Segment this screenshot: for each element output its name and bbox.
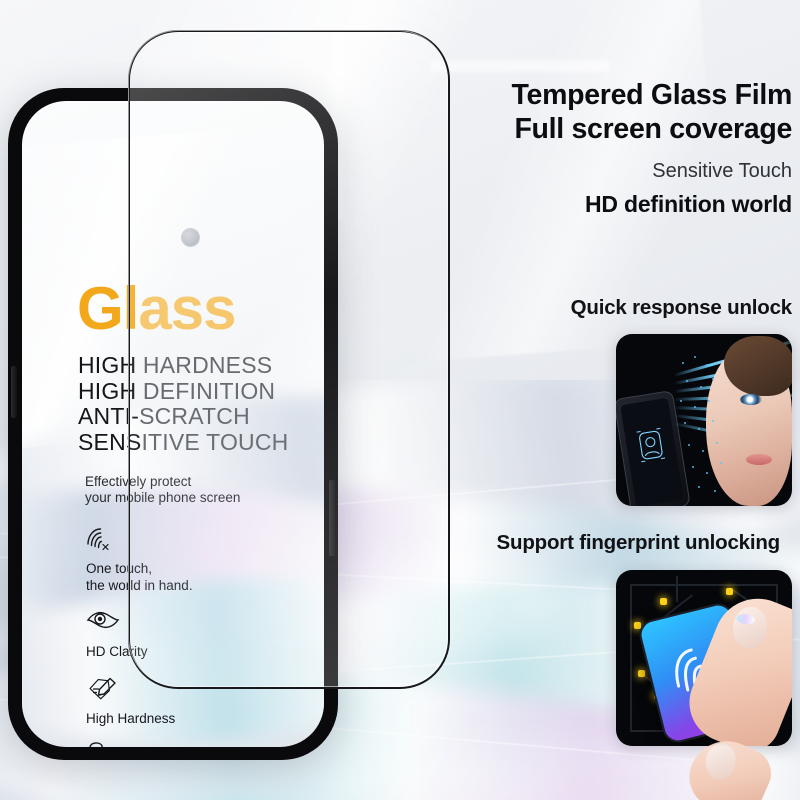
phone-volume-button bbox=[11, 366, 17, 418]
section-title-face-unlock: Quick response unlock bbox=[440, 296, 792, 320]
section-title-fingerprint: Support fingerprint unlocking bbox=[428, 531, 780, 555]
fingerprint-unlock-photo bbox=[616, 570, 792, 746]
headline-line-2: Full screen coverage bbox=[440, 112, 792, 146]
product-marketing-image: Glass HIGH HARDNESS HIGH DEFINITION ANTI… bbox=[0, 0, 800, 800]
face-wireframe-mesh bbox=[674, 342, 786, 502]
headline-block: Tempered Glass Film Full screen coverage… bbox=[440, 78, 792, 219]
feature-label: High Hardness bbox=[86, 711, 316, 728]
subtitle-sensitive-touch: Sensitive Touch bbox=[440, 158, 792, 184]
headline-line-1: Tempered Glass Film bbox=[440, 78, 792, 112]
feature-item: Full screen coverage bbox=[86, 741, 316, 747]
face-unlock-photo bbox=[616, 334, 792, 506]
full-coverage-film-icon bbox=[86, 741, 316, 747]
subtitle-hd-definition: HD definition world bbox=[440, 190, 792, 219]
window-frame-bar bbox=[430, 60, 610, 72]
glass-film-edge-highlight bbox=[128, 30, 448, 687]
fingernail bbox=[731, 605, 769, 650]
